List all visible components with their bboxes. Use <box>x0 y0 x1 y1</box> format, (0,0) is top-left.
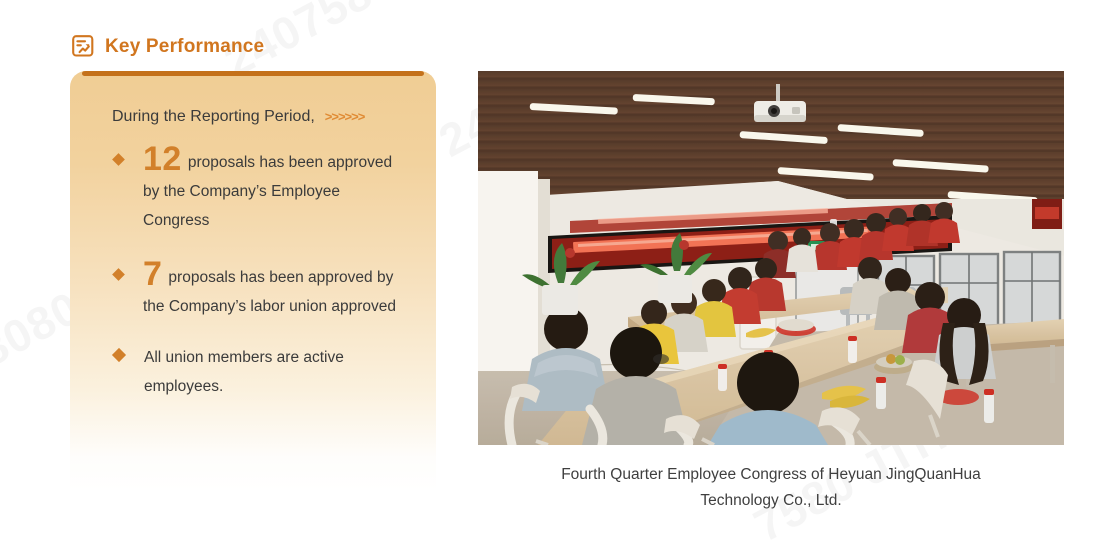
metric-value: 7 <box>143 255 162 293</box>
key-performance-card: During the Reporting Period, >>>>>> 12pr… <box>70 71 436 491</box>
photo-caption-line-2: Technology Co., Ltd. <box>478 488 1064 514</box>
list-item-label: All union members are active employees. <box>144 349 344 395</box>
meeting-photo-image <box>478 71 1064 445</box>
meeting-photo <box>478 71 1064 445</box>
metric-value: 12 <box>143 140 182 178</box>
list-item-body: All union members are active employees. <box>144 343 410 401</box>
list-item-body: 7proposals has been approved by the Comp… <box>143 257 410 321</box>
chevrons-icon: >>>>>> <box>325 109 365 126</box>
page-title: Key Performance <box>105 37 264 56</box>
lead-text: During the Reporting Period, <box>112 107 315 128</box>
key-performance-list: 12proposals has been approved by the Com… <box>112 142 410 401</box>
list-item: 12proposals has been approved by the Com… <box>112 142 410 235</box>
photo-caption: Fourth Quarter Employee Congress of Heyu… <box>478 462 1064 514</box>
list-item: 7proposals has been approved by the Comp… <box>112 257 410 321</box>
list-item: All union members are active employees. <box>112 343 410 401</box>
card-body: During the Reporting Period, >>>>>> 12pr… <box>70 71 436 423</box>
list-item-label: proposals has been approved by the Compa… <box>143 269 396 315</box>
photo-caption-line-1: Fourth Quarter Employee Congress of Heyu… <box>478 462 1064 488</box>
lead-line: During the Reporting Period, >>>>>> <box>112 107 410 128</box>
diamond-bullet-icon <box>112 268 125 281</box>
list-item-body: 12proposals has been approved by the Com… <box>143 142 410 235</box>
diamond-bullet-icon <box>112 153 125 166</box>
section-header: Key Performance <box>70 33 264 59</box>
report-chart-icon <box>70 33 96 59</box>
diamond-bullet-icon <box>112 348 126 362</box>
